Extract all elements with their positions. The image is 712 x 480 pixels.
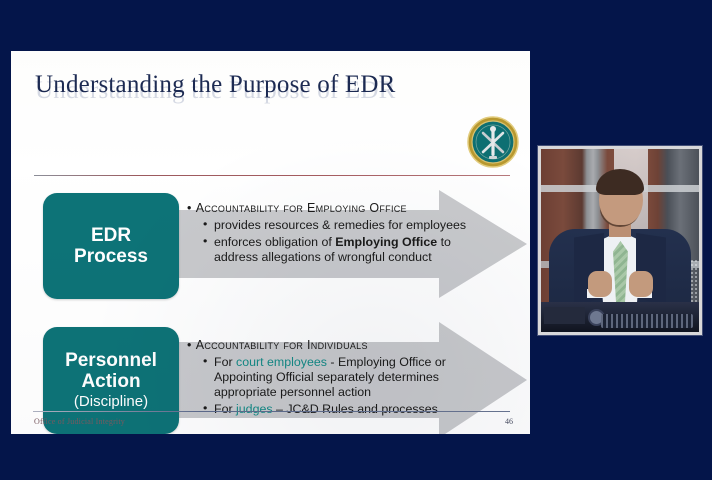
bullet-heading-text: Accountability for Employing Office: [196, 201, 407, 215]
page-title: Understanding the Purpose of EDR: [35, 71, 455, 99]
bullet-dot-icon: •: [187, 338, 192, 352]
bullet-heading: •Accountability for Individuals: [187, 338, 477, 352]
bullet-heading-text: Accountability for Individuals: [196, 338, 368, 352]
bullet-text: provides resources & remedies for employ…: [214, 218, 466, 232]
process-row-edr: EDR Process •Accountability for Employin…: [11, 184, 530, 309]
bullet-item: For court employees - Employing Office o…: [203, 355, 477, 400]
bullet-item: provides resources & remedies for employ…: [203, 218, 477, 233]
office-of-judicial-integrity-seal-icon: [467, 116, 519, 168]
presenter-hand-right: [629, 271, 653, 297]
bullet-item: For judges – JC&D Rules and processes: [203, 402, 477, 417]
bullet-text: For judges – JC&D Rules and processes: [214, 402, 438, 416]
pill-edr-process: EDR Process: [43, 193, 179, 299]
presenter-hand-left: [588, 271, 612, 297]
bullet-heading: •Accountability for Employing Office: [187, 201, 477, 215]
pill-line-1: EDR: [91, 225, 131, 246]
bullet-group-personnel: •Accountability for Individuals For cour…: [187, 338, 477, 420]
pill-line-2: Process: [74, 246, 148, 267]
footer-organization: Office of Judicial Integrity: [34, 417, 125, 426]
pill-sub-label: (Discipline): [74, 394, 148, 411]
pill-line-1: Personnel: [65, 350, 157, 371]
slide-canvas: Understanding the Purpose of EDR Underst…: [11, 51, 530, 434]
title-divider: [34, 175, 510, 176]
bullet-text: For court employees - Employing Office o…: [214, 355, 446, 399]
presenter-video-feed[interactable]: [541, 149, 699, 332]
slide-page-number: 46: [491, 417, 513, 426]
keyboard: [601, 314, 693, 328]
presentation-stage: Understanding the Purpose of EDR Underst…: [0, 0, 712, 480]
footer-divider: [33, 411, 510, 412]
bullet-item: enforces obligation of Employing Office …: [203, 235, 477, 265]
bullet-text: enforces obligation of Employing Office …: [214, 235, 451, 264]
presenter-video-panel[interactable]: [538, 146, 702, 335]
laptop: [544, 307, 585, 324]
bullet-dot-icon: •: [187, 201, 192, 215]
pill-line-2: Action: [81, 371, 140, 392]
bullet-group-edr: •Accountability for Employing Office pro…: [187, 201, 477, 267]
